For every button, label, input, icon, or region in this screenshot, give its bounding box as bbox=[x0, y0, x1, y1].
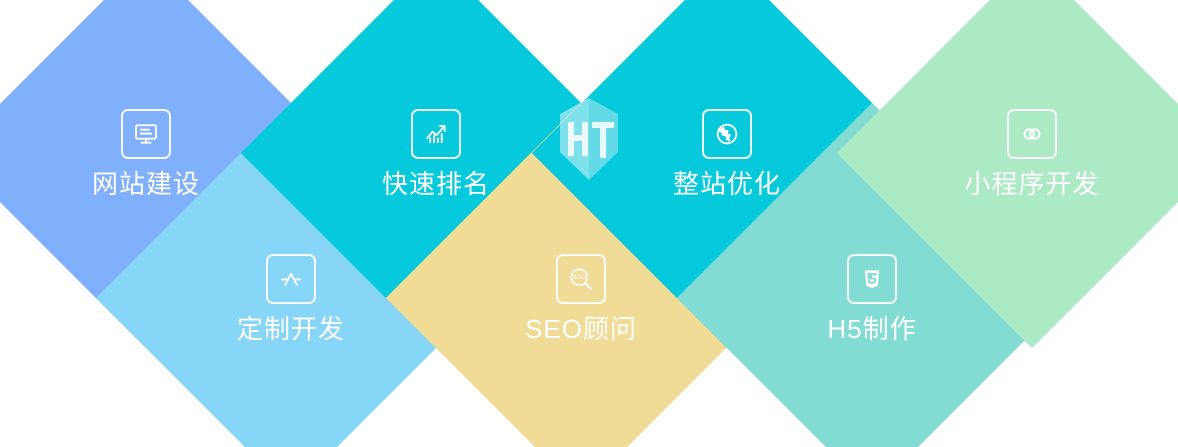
services-diamond-grid: 网站建设 定制开发 bbox=[0, 0, 1178, 447]
svg-text:SEO: SEO bbox=[572, 274, 586, 281]
tile-label: SEO顾问 bbox=[525, 316, 637, 342]
tile-label: 小程序开发 bbox=[964, 171, 1099, 197]
monitor-icon bbox=[121, 109, 171, 159]
tile-label: H5制作 bbox=[827, 316, 916, 342]
globe-icon bbox=[702, 109, 752, 159]
tile-content: 小程序开发 bbox=[894, 15, 1170, 291]
growth-chart-icon bbox=[411, 109, 461, 159]
tile-label: 快速排名 bbox=[382, 171, 490, 197]
seo-search-icon: SEO bbox=[556, 254, 606, 304]
html5-badge-icon bbox=[847, 254, 897, 304]
linked-circles-icon bbox=[1007, 109, 1057, 159]
tile-label: 定制开发 bbox=[237, 316, 345, 342]
appstore-icon bbox=[266, 254, 316, 304]
tile-label: 整站优化 bbox=[673, 171, 781, 197]
tile-label: 网站建设 bbox=[92, 171, 200, 197]
